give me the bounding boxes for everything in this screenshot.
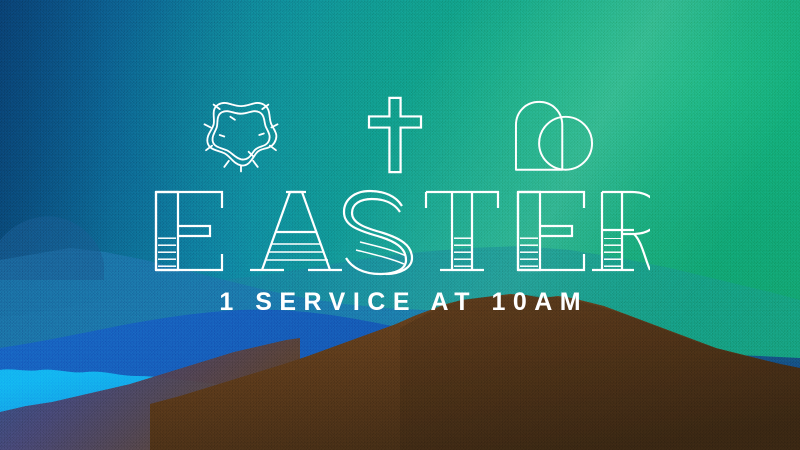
empty-tomb-icon bbox=[511, 98, 597, 172]
wordmark-letter-a bbox=[250, 192, 342, 270]
content-stack: 1 SERVICE AT 10AM bbox=[0, 0, 800, 450]
wordmark-letter-e2 bbox=[518, 192, 584, 270]
wordmark-letter-r bbox=[592, 192, 650, 270]
easter-wordmark-svg bbox=[150, 186, 650, 278]
wordmark-letter-s bbox=[344, 191, 412, 274]
icon-row bbox=[203, 96, 597, 174]
wordmark-letter-t bbox=[426, 192, 498, 270]
wordmark-letter-e1 bbox=[150, 192, 222, 270]
service-time-subtitle: 1 SERVICE AT 10AM bbox=[212, 288, 588, 317]
crown-of-thorns-icon bbox=[203, 97, 279, 173]
easter-service-graphic: 1 SERVICE AT 10AM bbox=[0, 0, 800, 450]
cross-icon bbox=[367, 96, 423, 174]
easter-wordmark bbox=[150, 186, 650, 278]
